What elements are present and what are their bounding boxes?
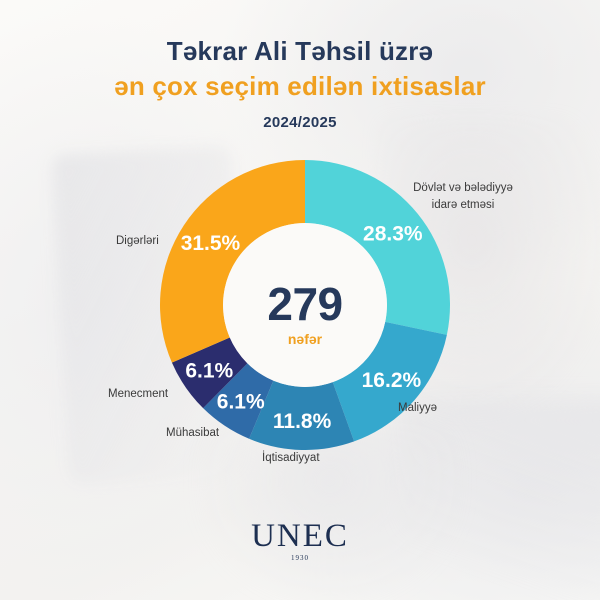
slice-percent-menecment: 6.1% <box>185 360 233 383</box>
slice-percent-muhasibat: 6.1% <box>217 391 265 414</box>
unec-logo-text: UNEC <box>0 520 600 553</box>
slice-percent-dovlat: 28.3% <box>363 223 423 246</box>
category-label-muhasibat: Mühasibat <box>166 425 219 442</box>
background-texture-bottom <box>200 430 460 600</box>
center-total-unit: nəfər <box>288 331 323 347</box>
slice-percent-digarlari: 31.5% <box>181 232 241 255</box>
unec-logo: UNEC 1930 <box>0 520 600 562</box>
category-label-maliyya: Maliyyə <box>398 400 437 417</box>
center-total-value: 279 <box>267 278 342 330</box>
slice-percent-iqtisadiyyat: 11.8% <box>273 410 332 433</box>
page-title-line1: Təkrar Ali Təhsil üzrə <box>0 36 600 68</box>
slice-percent-maliyya: 16.2% <box>362 369 422 392</box>
infographic-poster: Təkrar Ali Təhsil üzrə ən çox seçim edil… <box>0 0 600 600</box>
page-subtitle-year: 2024/2025 <box>0 114 600 131</box>
category-label-digarlari: Digərləri <box>116 233 159 250</box>
category-label-iqtisadiyyat: İqtisadiyyat <box>262 450 320 467</box>
unec-logo-year: 1930 <box>0 554 600 562</box>
poster-header: Təkrar Ali Təhsil üzrə ən çox seçim edil… <box>0 36 600 131</box>
category-label-menecment: Menecment <box>108 386 168 403</box>
page-title-line2: ən çox seçim edilən ixtisaslar <box>0 71 600 103</box>
category-label-dovlat-va-baladiyya: Dövlət və bələdiyyə idarə etməsi <box>388 180 538 213</box>
